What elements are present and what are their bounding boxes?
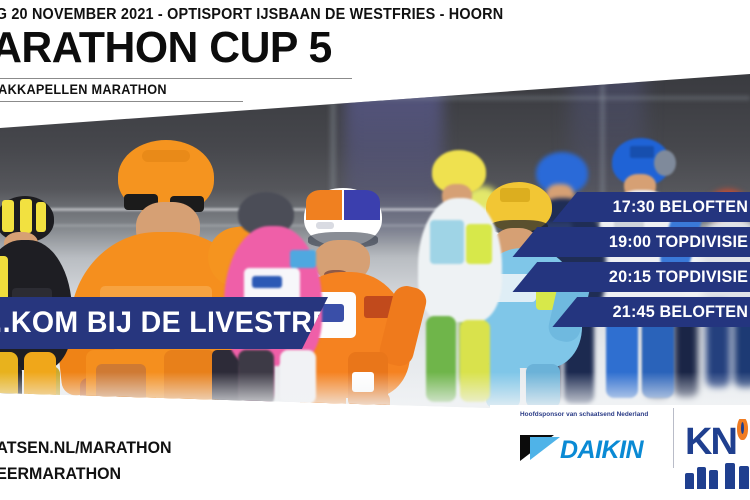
event-date-line: ...DAG 20 NOVEMBER 2021 - OPTISPORT IJSB… [0, 6, 503, 24]
schedule-item-1[interactable]: 17:30 BELOFTEN [552, 192, 750, 222]
header-divider-top [0, 78, 352, 79]
knsb-flame-icon [737, 419, 748, 440]
livestream-poster: 17:30 BELOFTEN 19:00 TOPDIVISIE 20:15 TO… [0, 0, 750, 500]
skater-yellow-navy [418, 150, 514, 402]
daikin-triangle-light-icon [530, 437, 560, 460]
daikin-logo: DAIKIN [520, 432, 670, 464]
knsb-logo: KN [685, 419, 750, 491]
schedule-item-2-text: 19:00 TOPDIVISIE [609, 232, 748, 252]
schedule-item-3-text: 20:15 TOPDIVISIE [609, 267, 748, 287]
knsb-wordmark: KN [685, 421, 736, 464]
schedule-item-4-text: 21:45 BELOFTEN [613, 302, 748, 322]
event-subtitle: ...R DAKKAPELLEN MARATHON [0, 82, 167, 97]
sponsor-caption: Hoofdsponsor van schaatsend Nederland [520, 411, 648, 418]
schedule-item-4[interactable]: 21:45 BELOFTEN [552, 297, 750, 327]
schedule-item-1-text: 17:30 BELOFTEN [613, 197, 748, 217]
header-divider-bottom [0, 101, 243, 102]
livestream-banner: ...KOM BIJ DE LIVESTREAM [0, 297, 328, 349]
knsb-bars-icon [685, 461, 750, 489]
sponsor-divider [673, 408, 674, 468]
website-url[interactable]: ...HAATSEN.NL/MARATHON [0, 438, 172, 458]
schedule-item-3[interactable]: 20:15 TOPDIVISIE [513, 262, 750, 292]
hashtag[interactable]: #MEERMARATHON [0, 464, 121, 484]
page-title: MARATHON CUP 5 [0, 26, 332, 70]
sponsor-block: Hoofdsponsor van schaatsend Nederland DA… [490, 405, 750, 500]
daikin-wordmark: DAIKIN [560, 436, 643, 465]
schedule-item-2[interactable]: 19:00 TOPDIVISIE [513, 227, 750, 257]
